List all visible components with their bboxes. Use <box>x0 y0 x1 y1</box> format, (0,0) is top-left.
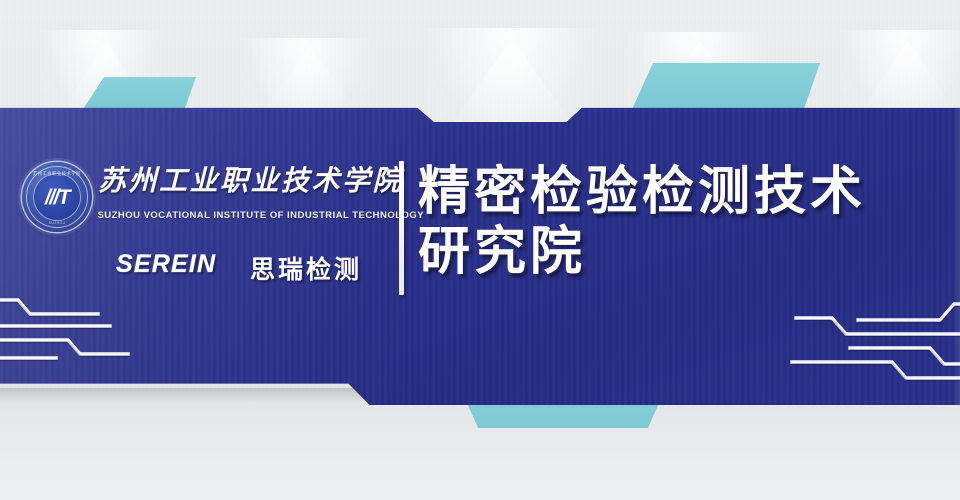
banner-right-edge-highlight <box>954 100 960 405</box>
vertical-divider <box>399 161 404 295</box>
university-name-en: SUZHOU VOCATIONAL INSTITUTE OF INDUSTRIA… <box>98 210 395 221</box>
partner-brand-en: SEREIN <box>116 250 216 279</box>
emblem-monogram: ///T <box>22 188 92 208</box>
emblem-arc-text: 苏州工业职业技术学院 <box>23 171 90 177</box>
emblem-arc-bottom-text: SUZHOU <box>22 221 92 225</box>
university-name-cn: 苏州工业职业技术学院 <box>98 166 398 196</box>
signage-scene: 苏州工业职业技术学院 ///T SUZHOU 苏州工业职业技术学院 SUZHOU… <box>0 0 960 500</box>
signage-title-line-1: 精密检验检测技术 <box>418 162 948 222</box>
partner-brand-cn: 思瑞检测 <box>250 250 362 286</box>
institution-logo-block: 苏州工业职业技术学院 ///T SUZHOU 苏州工业职业技术学院 SUZHOU… <box>0 150 400 300</box>
signage-title-line-2: 研究院 <box>418 222 948 282</box>
signage-title: 精密检验检测技术 研究院 <box>418 162 948 282</box>
university-emblem-icon: 苏州工业职业技术学院 ///T SUZHOU <box>22 162 92 232</box>
